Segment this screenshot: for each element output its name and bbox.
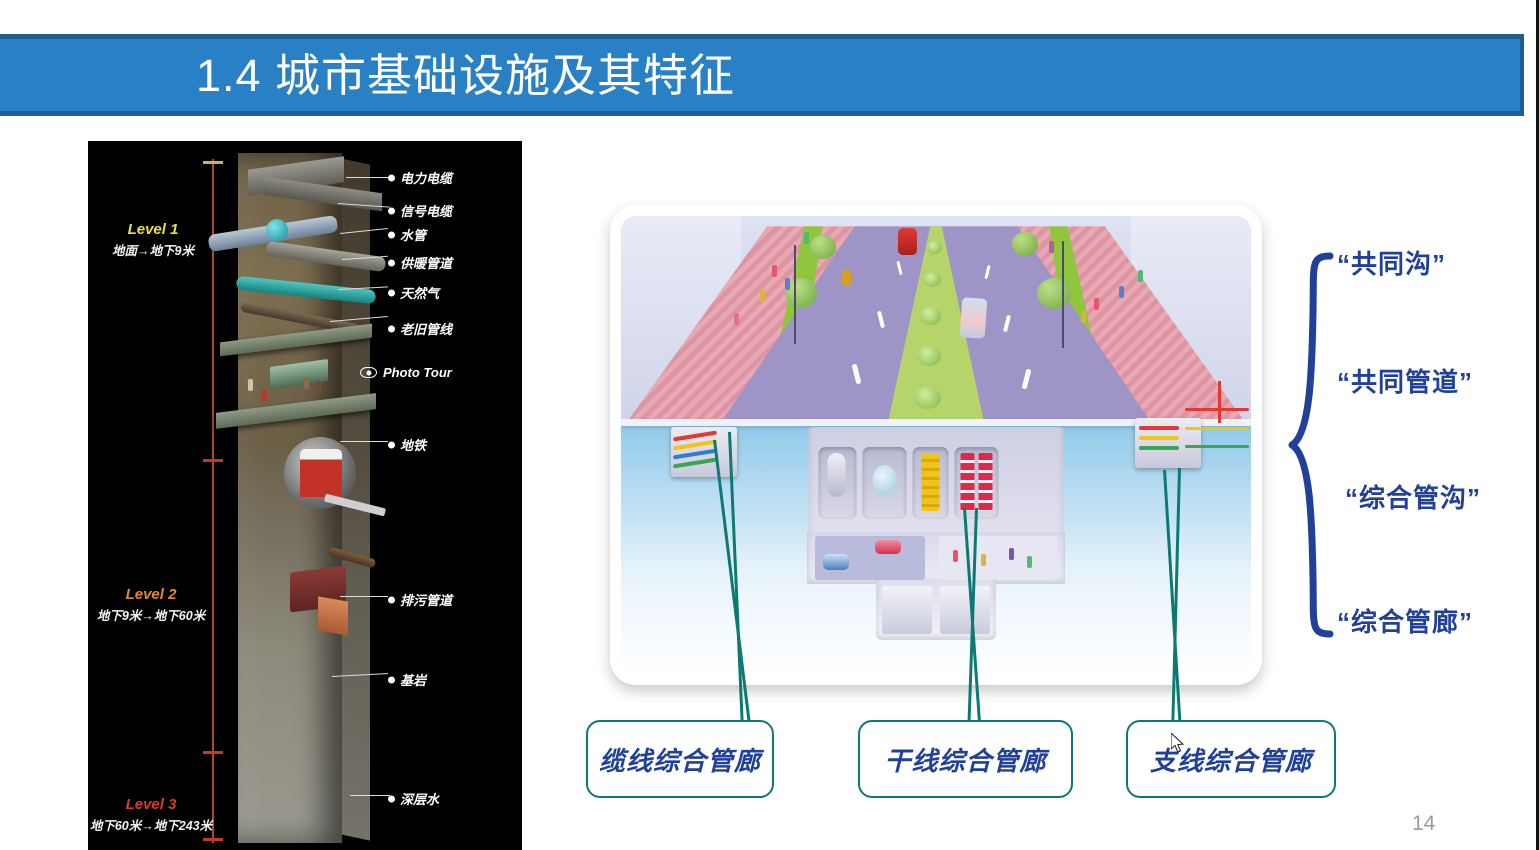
slide-title-bar: 1.4 城市基础设施及其特征 (0, 34, 1524, 116)
leader-line (340, 441, 388, 442)
ruler-tick-top (203, 161, 223, 164)
pipe-label-old-pipeline: 老旧管线 (400, 319, 452, 338)
leader-line (346, 177, 388, 178)
depth-ruler (212, 159, 214, 843)
pipe-label-bedrock: 基岩 (400, 670, 426, 689)
utility-tunnel-illustration (610, 205, 1262, 685)
pedestrian (804, 232, 809, 244)
pedestrian (734, 313, 739, 325)
duct-reclaimed (863, 447, 907, 519)
median-shrub (914, 387, 941, 409)
street-tree (810, 235, 836, 259)
level-range: 地下60米→地下243米 (88, 815, 226, 834)
level-name: Level 2 (88, 586, 226, 603)
road-tunnel (815, 536, 925, 580)
pipe-label-natural-gas: 天然气 (400, 283, 439, 302)
level-caption-1: Level 1 地面→地下9米 (88, 221, 228, 259)
motorcyclist (842, 270, 851, 286)
level-name: Level 3 (88, 796, 226, 813)
figure-person (248, 379, 253, 391)
median-shrub (917, 346, 941, 366)
callout-cable-utility-tunnel[interactable]: 缆线综合管廊 (586, 720, 774, 798)
pipe-round (873, 465, 897, 495)
callout-trunk-utility-tunnel[interactable]: 干线综合管廊 (858, 720, 1073, 798)
pipe-label-water-pipe: 水管 (400, 225, 426, 244)
level-range: 地面→地下9米 (88, 240, 228, 259)
street-lamp-post (1062, 241, 1064, 348)
term-gongtonggou: “共同沟” (1337, 244, 1446, 281)
underground-levels-figure: Level 1 地面→地下9米 Level 2 地下9米→地下60米 Level… (88, 141, 522, 850)
cable-bundle-red (961, 453, 975, 511)
duct-power (913, 447, 949, 519)
external-line-green (1185, 445, 1249, 448)
pedestrian (772, 265, 777, 277)
pipe-label-power-cable: 电力电缆 (400, 168, 452, 187)
street-tree (1037, 278, 1071, 309)
utility-line-red (1139, 426, 1179, 430)
callout-label: 缆线综合管廊 (599, 741, 761, 778)
cable-cluster-right (1135, 418, 1201, 468)
pipe-cap (266, 219, 288, 241)
pedestrian (1094, 298, 1099, 310)
median-shrub (923, 272, 941, 287)
pedestrian (1081, 311, 1086, 323)
term-gongtongguandao: “共同管道” (1337, 362, 1473, 399)
figure-person (304, 377, 309, 389)
pipe-label-sewage-pipe: 排污管道 (400, 590, 452, 609)
page-title: 1.4 城市基础设施及其特征 (196, 53, 735, 98)
grouping-brace-icon (1288, 252, 1334, 638)
ruler-tick-level3 (203, 751, 223, 754)
pipe-label-metro: 地铁 (400, 435, 426, 454)
utility-tunnel-section (809, 427, 1064, 547)
tunnel-vehicle-red (875, 540, 901, 554)
external-riser-red (1218, 381, 1221, 423)
external-line-yellow (1185, 427, 1249, 430)
pedestrian (953, 550, 958, 562)
utility-line-green (1139, 446, 1179, 450)
pipe-label-deep-water: 深层水 (400, 789, 439, 808)
tunnel-vehicle-blue (823, 554, 849, 570)
sewage-pipe-mouth (318, 596, 348, 635)
utility-line-yellow (1139, 436, 1179, 440)
figure-person (316, 381, 321, 393)
term-zonghe-guangou: “综合管沟” (1345, 478, 1481, 515)
ruler-tick-level2 (203, 459, 223, 462)
pedestrian (1119, 286, 1124, 298)
street-scene (621, 216, 1251, 422)
metro-platform-right (940, 586, 990, 634)
metro-platform-left (882, 586, 932, 634)
lower-level-section (807, 532, 1065, 584)
ruler-tick-bottom (203, 838, 223, 841)
level-caption-2: Level 2 地下9米→地下60米 (88, 586, 226, 624)
street-tree (1012, 232, 1038, 256)
metro-level-section (876, 580, 996, 640)
pedestrian (1049, 241, 1054, 253)
street-lamp-post (794, 245, 796, 344)
median-shrub (927, 241, 942, 254)
level-name: Level 1 (88, 221, 228, 238)
leader-line (350, 795, 390, 796)
pedestrian (1138, 270, 1143, 282)
pedestrian (785, 278, 790, 290)
pipe-label-signal-cable: 信号电缆 (400, 201, 452, 220)
term-zonghe-guanlang: “综合管廊” (1337, 602, 1473, 639)
cable-bundle-yellow (922, 453, 940, 511)
mouse-cursor-icon (1171, 733, 1184, 753)
photo-tour-control[interactable]: Photo Tour (360, 365, 452, 380)
pedestrian (1009, 548, 1014, 560)
level-caption-3: Level 3 地下60米→地下243米 (88, 796, 226, 834)
leader-line (340, 596, 388, 597)
eye-icon (360, 367, 377, 378)
pipe-large (828, 453, 846, 497)
callout-branch-utility-tunnel[interactable]: 支线综合管廊 (1126, 720, 1336, 798)
pipe-label-heating-pipe: 供暖管道 (400, 253, 452, 272)
figure-person (262, 389, 267, 401)
photo-tour-label: Photo Tour (383, 365, 452, 380)
level-range: 地下9米→地下60米 (88, 605, 226, 624)
median-shrub (920, 307, 941, 325)
pedestrian (1027, 556, 1032, 568)
pedestrian-passage (939, 536, 1057, 580)
vehicle-white (960, 298, 988, 340)
callout-label: 干线综合管廊 (884, 741, 1046, 778)
metro-train (300, 449, 342, 497)
pedestrian (981, 554, 986, 566)
vehicle-red (898, 228, 917, 255)
pedestrian (760, 290, 765, 302)
duct-water (819, 447, 857, 519)
external-line-red (1185, 408, 1249, 411)
page-number: 14 (1412, 812, 1435, 836)
cable-bundle-red (979, 453, 993, 511)
